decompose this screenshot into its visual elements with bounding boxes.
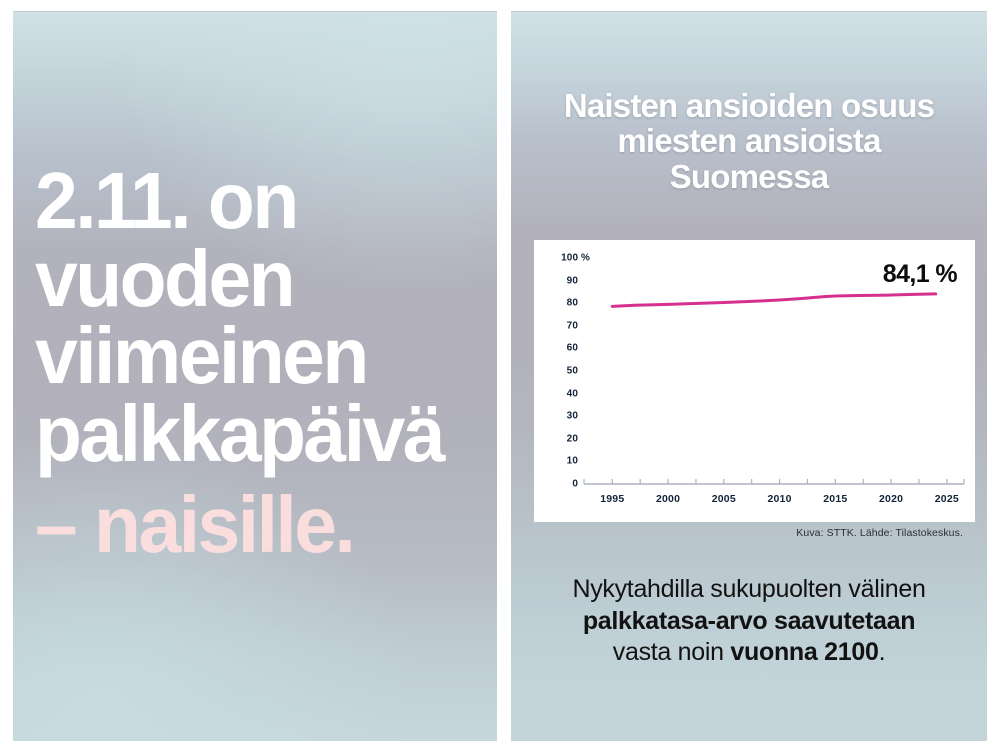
chart-value-annotation: 84,1 % xyxy=(883,260,957,289)
headline-line-5: – naisille. xyxy=(35,486,497,564)
infographic-canvas: 2.11. on vuoden viimeinen palkkapäivä – … xyxy=(0,0,1000,751)
caption-line-3: vasta noin vuonna 2100. xyxy=(531,637,967,669)
left-slide-panel: 2.11. on vuoden viimeinen palkkapäivä – … xyxy=(13,11,497,741)
caption-emphasis: palkkatasa-arvo saavutetaan xyxy=(583,607,915,635)
chart-title-line-2: miesten ansioista xyxy=(525,123,973,158)
chart-source-note: Kuva: STTK. Lähde: Tilastokeskus. xyxy=(796,527,963,539)
chart-title-line-3: Suomessa xyxy=(525,159,973,194)
caption-emphasis: vuonna 2100 xyxy=(730,638,878,666)
headline-line-2: vuoden xyxy=(35,240,497,318)
caption-line-2: palkkatasa-arvo saavutetaan xyxy=(531,606,967,638)
headline-line-1: 2.11. on xyxy=(35,162,497,240)
chart-caption: Nykytahdilla sukupuolten välinen palkkat… xyxy=(531,574,967,669)
headline-line-4: palkkapäivä xyxy=(35,395,497,473)
right-slide-panel: Naisten ansioiden osuus miesten ansioist… xyxy=(511,11,987,741)
series-line xyxy=(612,294,935,306)
chart-plot-area: 0102030405060708090100 % 199520002005201… xyxy=(534,240,975,522)
chart-title: Naisten ansioiden osuus miesten ansioist… xyxy=(511,88,987,194)
chart-card: 0102030405060708090100 % 199520002005201… xyxy=(534,240,975,522)
caption-line-1: Nykytahdilla sukupuolten välinen xyxy=(531,574,967,606)
chart-title-line-1: Naisten ansioiden osuus xyxy=(525,88,973,123)
headline-line-3: viimeinen xyxy=(35,317,497,395)
left-headline-block: 2.11. on vuoden viimeinen palkkapäivä – … xyxy=(35,162,497,564)
